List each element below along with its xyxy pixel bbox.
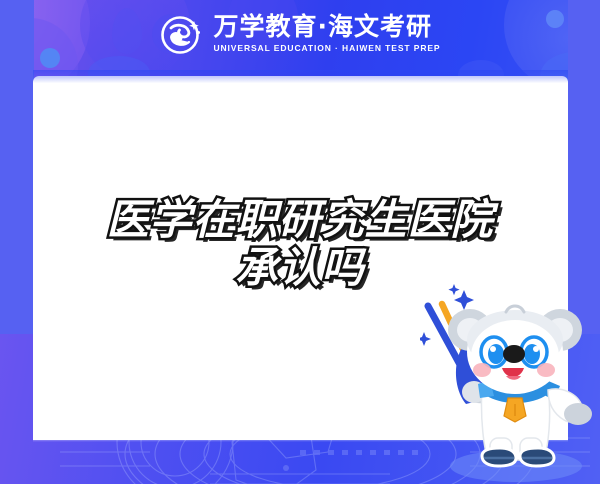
poster-canvas: 万学教育·海文考研 UNIVERSAL EDUCATION · HAIWEN T… xyxy=(0,0,600,484)
brand-logo-lockup[interactable]: 万学教育·海文考研 UNIVERSAL EDUCATION · HAIWEN T… xyxy=(0,12,600,56)
swirl-circle-logo-icon xyxy=(159,12,203,56)
koala-mascot xyxy=(420,278,600,484)
brand-name-en: UNIVERSAL EDUCATION · HAIWEN TEST PREP xyxy=(213,43,440,54)
brand-name-cn: 万学教育·海文考研 xyxy=(213,14,432,40)
headline-line-1: 医学在职研究生医院 xyxy=(60,196,540,244)
